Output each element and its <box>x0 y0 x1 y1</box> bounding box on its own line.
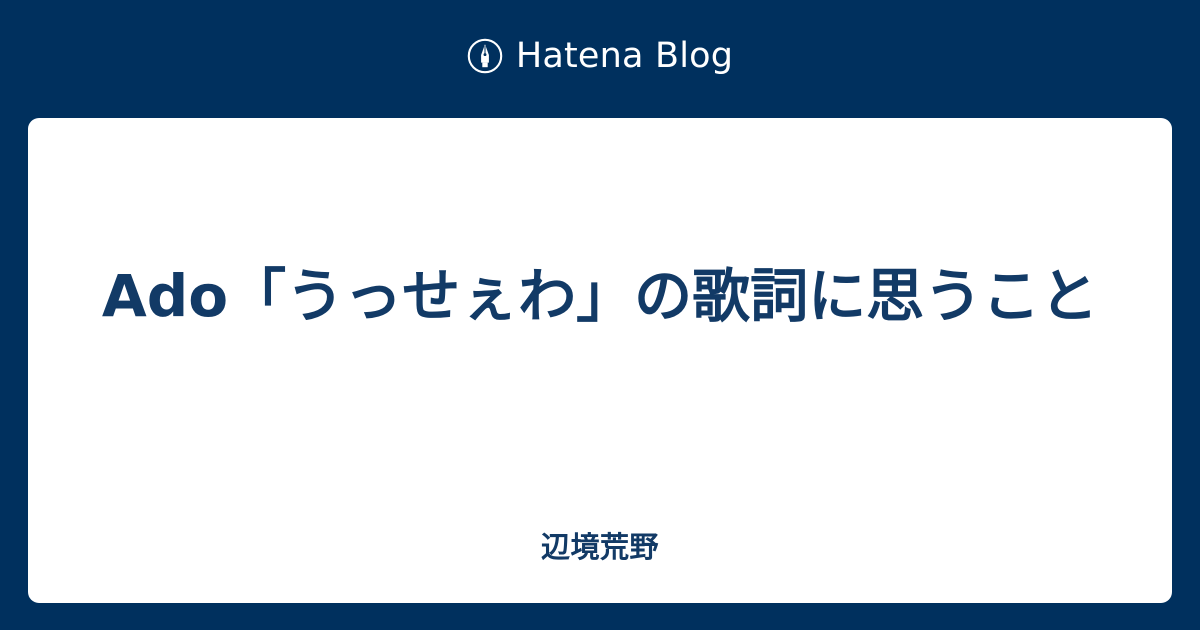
blog-name[interactable]: 辺境荒野 <box>28 528 1172 566</box>
pen-nib-in-circle-icon <box>467 38 503 74</box>
brand-wordmark: Hatena Blog <box>516 39 733 74</box>
brand-header: Hatena Blog <box>0 0 1200 118</box>
entry-card: Ado「うっせぇわ」の歌詞に思うこと 辺境荒野 <box>28 118 1172 603</box>
ogp-card-root: Hatena Blog Ado「うっせぇわ」の歌詞に思うこと 辺境荒野 <box>0 0 1200 630</box>
brand-lockup[interactable]: Hatena Blog <box>467 38 733 74</box>
entry-title: Ado「うっせぇわ」の歌詞に思うこと <box>28 258 1172 334</box>
